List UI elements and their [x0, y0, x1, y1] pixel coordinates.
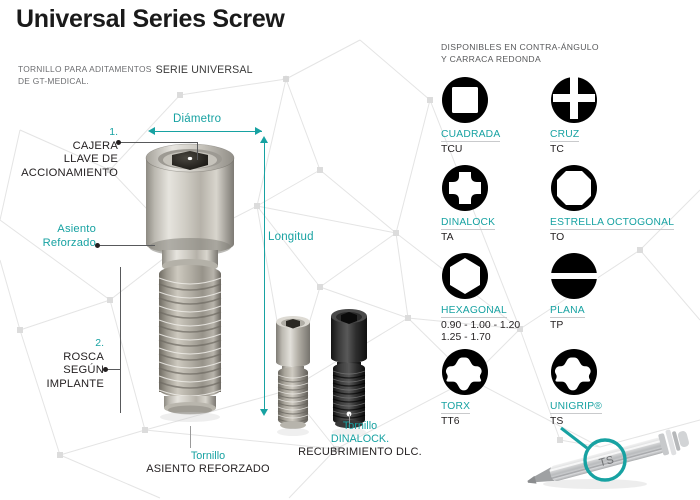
intro-small-text: TORNILLO PARA ADITAMENTOSDE GT-MEDICAL.: [18, 64, 152, 87]
right-panel-heading-line1: DISPONIBLES EN CONTRA-ÁNGULO: [441, 42, 599, 52]
driver-code-estrella-octogonal: TO: [550, 232, 663, 244]
intro-line1: TORNILLO PARA ADITAMENTOS: [18, 64, 152, 74]
caption-main-screw-dark: ASIENTO REFORZADO: [108, 463, 308, 476]
driver-cell-unigrip[interactable]: UNIGRIP® TS: [550, 348, 663, 428]
driver-cell-dinalock[interactable]: DINALOCK TA: [441, 164, 554, 252]
callout-cajera-llave: 1. CAJERA LLAVE DE ACCIONAMIENTO: [0, 126, 118, 180]
page-title: Universal Series Screw: [16, 5, 285, 34]
caption-dinalock-teal1: Tornillo: [270, 420, 450, 433]
driver-code-hexagonal: 0.90 - 1.00 - 1.20 1.25 - 1.70: [441, 320, 554, 344]
unigrip-highlight-leader: [561, 428, 587, 448]
driver-cell-plana[interactable]: PLANA TP: [550, 252, 663, 348]
callout-rosca-line1: ROSCA: [0, 351, 104, 365]
poster-canvas: Universal Series Screw TORNILLO PARA ADI…: [0, 0, 700, 500]
callout-asiento-reforzado: Asiento Reforzado: [0, 223, 96, 250]
callout-rosca-line2: SEGÚN: [0, 364, 104, 378]
driver-name-plana: PLANA: [550, 305, 585, 318]
caption-dinalock-dark: RECUBRIMIENTO DLC.: [270, 446, 450, 459]
callout-cajera-number: 1.: [0, 126, 118, 140]
driver-code-plana: TP: [550, 320, 663, 332]
driver-name-hexagonal: HEXAGONAL: [441, 305, 507, 318]
diameter-dimension-line: [152, 131, 262, 132]
screwdriver-marking: TS: [598, 454, 616, 469]
callout-asiento-line1: Asiento: [0, 223, 96, 237]
unigrip-screwdriver-illustration: TS: [525, 420, 700, 495]
length-dimension-line: [264, 143, 265, 411]
callout-rosca-bracket: [120, 267, 121, 413]
driver-cell-estrella-octogonal[interactable]: ESTRELLA OCTOGONAL TO: [550, 164, 663, 252]
driver-name-torx: TORX: [441, 401, 470, 414]
caption-dinalock-teal2: DINALOCK.: [270, 433, 450, 446]
intro-text: TORNILLO PARA ADITAMENTOSDE GT-MEDICAL.S…: [18, 64, 253, 87]
driver-row-2: DINALOCK TA ESTRELLA OCTOGONAL TO: [441, 164, 700, 252]
callout-rosca-line3: IMPLANTE: [0, 378, 104, 392]
length-dimension-label: Longitud: [268, 231, 314, 243]
diameter-dimension-label: Diámetro: [173, 113, 221, 125]
driver-name-dinalock: DINALOCK: [441, 217, 495, 230]
dinalock-socket-icon: [441, 164, 489, 212]
callout-rosca-number: 2.: [0, 337, 104, 351]
callout-rosca-dot: [103, 367, 108, 372]
driver-name-unigrip: UNIGRIP®: [550, 401, 602, 414]
torx-socket-icon: [441, 348, 489, 396]
driver-row-1: CUADRADA TCU CRUZ TC: [441, 76, 700, 164]
driver-row-3: HEXAGONAL 0.90 - 1.00 - 1.20 1.25 - 1.70…: [441, 252, 700, 348]
driver-name-cuadrada: CUADRADA: [441, 129, 500, 142]
unigrip-socket-icon: [550, 348, 598, 396]
callout-asiento-line2: Reforzado: [0, 237, 96, 251]
callout-rosca-implante: 2. ROSCA SEGÚN IMPLANTE: [0, 337, 104, 391]
square-socket-icon: [441, 76, 489, 124]
intro-emphasis: SERIE UNIVERSAL: [156, 64, 253, 76]
intro-line2: DE GT-MEDICAL.: [18, 76, 89, 86]
driver-cell-hexagonal[interactable]: HEXAGONAL 0.90 - 1.00 - 1.20 1.25 - 1.70: [441, 252, 554, 348]
callout-cajera-leader-h: [120, 142, 198, 143]
caption-main-screw-leader: [190, 426, 191, 448]
length-arrow-bottom: [260, 409, 268, 416]
main-universal-screw-illustration: [128, 134, 252, 434]
cross-socket-icon: [550, 76, 598, 124]
callout-cajera-line3: ACCIONAMIENTO: [0, 167, 118, 181]
caption-dinalock-screw: Tornillo DINALOCK. RECUBRIMIENTO DLC.: [270, 420, 450, 459]
length-arrow-top: [260, 136, 268, 143]
diameter-arrow-left: [148, 127, 155, 135]
callout-asiento-dot: [95, 243, 100, 248]
hexagon-socket-icon: [441, 252, 489, 300]
callout-cajera-line2: LLAVE DE: [0, 153, 118, 167]
callout-cajera-line1: CAJERA: [0, 140, 118, 154]
right-panel-heading-line2: Y CARRACA REDONDA: [441, 54, 541, 64]
flat-slot-socket-icon: [550, 252, 598, 300]
callout-asiento-leader: [99, 245, 155, 246]
callout-rosca-leader-h: [107, 369, 120, 370]
driver-cell-cuadrada[interactable]: CUADRADA TCU: [441, 76, 554, 164]
callout-cajera-dot: [116, 140, 121, 145]
callout-cajera-leader-v: [197, 142, 198, 160]
right-panel-heading: DISPONIBLES EN CONTRA-ÁNGULO Y CARRACA R…: [441, 41, 599, 65]
driver-name-estrella-octogonal: ESTRELLA OCTOGONAL: [550, 217, 674, 230]
driver-head-grid: CUADRADA TCU CRUZ TC: [441, 76, 700, 428]
driver-cell-cruz[interactable]: CRUZ TC: [550, 76, 663, 164]
driver-code-cuadrada: TCU: [441, 144, 554, 156]
driver-name-cruz: CRUZ: [550, 129, 579, 142]
diameter-arrow-right: [255, 127, 262, 135]
driver-code-dinalock: TA: [441, 232, 554, 244]
driver-row-4: TORX TT6 UNIGRIP® TS: [441, 348, 700, 428]
octagon-socket-icon: [550, 164, 598, 212]
driver-cell-torx[interactable]: TORX TT6: [441, 348, 554, 428]
driver-code-cruz: TC: [550, 144, 663, 156]
